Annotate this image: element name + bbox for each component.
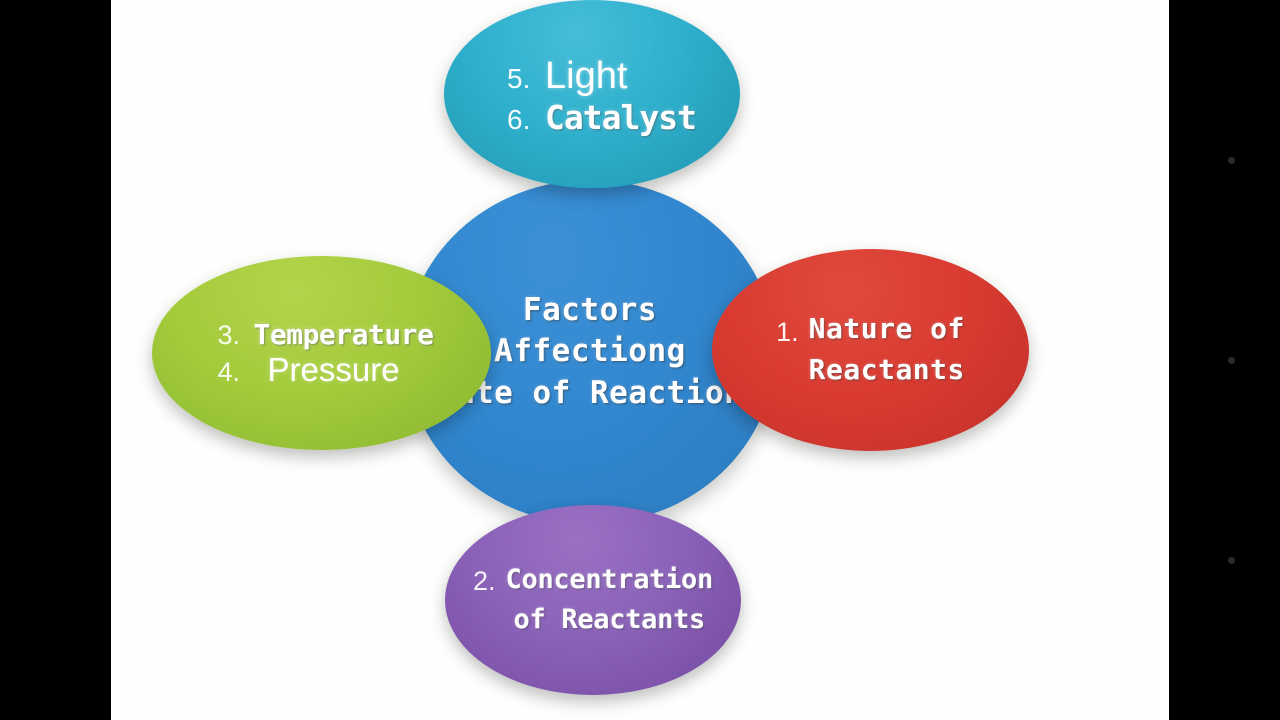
top-item-5-label: Light <box>545 55 627 98</box>
slide-stage: Factors Affectiong Rate of Reaction 5. L… <box>0 0 1280 720</box>
top-item-5-number: 5. <box>507 63 533 95</box>
top-item-6-label: Catalyst <box>545 98 696 137</box>
top-item-6-number: 6. <box>507 104 533 136</box>
branch-node-top-light-catalyst[interactable]: 5. Light 6. Catalyst <box>444 0 740 188</box>
top-item-6: 6. Catalyst <box>467 98 717 137</box>
branch-node-bottom-concentration[interactable]: 2. Concentration of Reactants <box>445 505 741 695</box>
left-item-4: 4. Pressure <box>192 351 452 389</box>
left-item-4-label: Pressure <box>254 351 400 389</box>
left-item-4-number: 4. <box>218 357 244 388</box>
bottom-item: 2. Concentration of Reactants <box>473 560 713 641</box>
top-item-5: 5. Light <box>467 55 717 98</box>
right-item-line-1: Nature of <box>809 309 965 350</box>
right-item-number: 1. <box>776 309 799 348</box>
branch-node-right-nature-of-reactants[interactable]: 1. Nature of Reactants <box>712 249 1029 451</box>
right-item-line-2: Reactants <box>809 350 965 391</box>
right-item-label: Nature of Reactants <box>809 309 965 390</box>
bottom-item-label: Concentration of Reactants <box>506 560 713 641</box>
slide-canvas: Factors Affectiong Rate of Reaction 5. L… <box>111 0 1169 720</box>
bottom-item-line-2: of Reactants <box>506 600 713 641</box>
edge-dot-top <box>1228 157 1235 164</box>
right-item: 1. Nature of Reactants <box>776 309 965 390</box>
left-item-3-number: 3. <box>218 320 244 351</box>
letterbox-bar-left <box>0 0 111 720</box>
left-item-3-label: Temperature <box>254 318 434 351</box>
bottom-item-line-1: Concentration <box>506 560 713 601</box>
edge-dot-bottom <box>1228 557 1235 564</box>
letterbox-bar-right <box>1169 0 1280 720</box>
edge-dot-middle <box>1228 357 1235 364</box>
left-item-3: 3. Temperature <box>192 318 452 351</box>
bottom-item-number: 2. <box>473 560 496 597</box>
branch-node-left-temperature-pressure[interactable]: 3. Temperature 4. Pressure <box>152 256 491 450</box>
